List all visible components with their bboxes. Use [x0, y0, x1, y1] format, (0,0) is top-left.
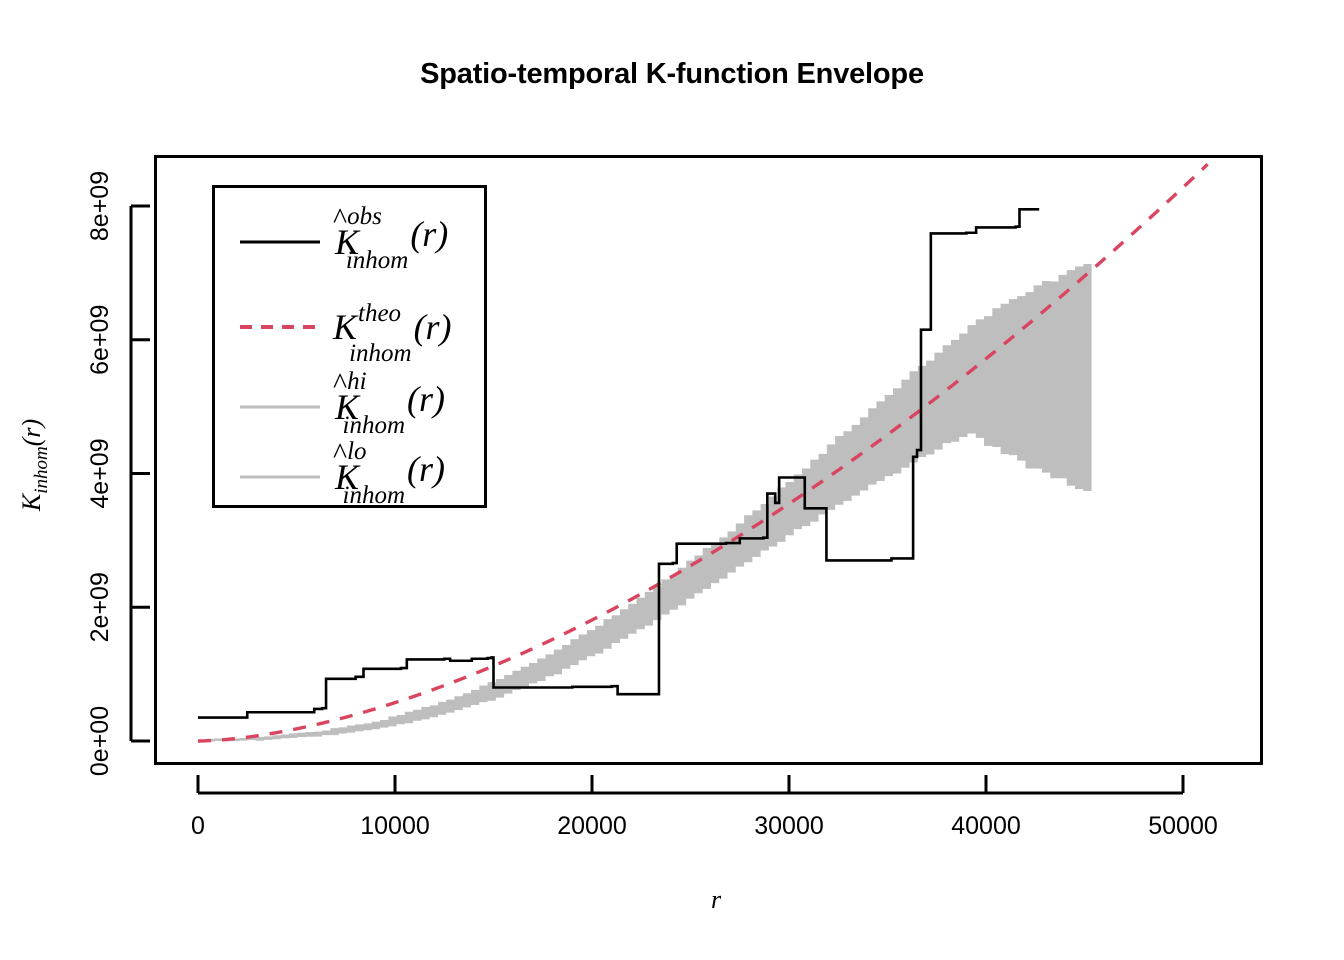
x-axis-tick-label: 10000: [360, 812, 430, 840]
y-axis-tick-label: 0e+00: [86, 706, 114, 776]
legend[interactable]: K^obsinhom(r)Ktheoinhom(r)K^hiinhom(r)K^…: [214, 187, 486, 510]
x-axis-tick-label: 30000: [754, 812, 824, 840]
y-axis: 0e+002e+094e+096e+098e+09: [86, 171, 150, 776]
x-axis: 01000020000300004000050000: [191, 775, 1218, 840]
plot-canvas: 01000020000300004000050000 0e+002e+094e+…: [0, 0, 1344, 960]
x-axis-tick-label: 20000: [557, 812, 627, 840]
x-axis-tick-label: 50000: [1148, 812, 1218, 840]
x-axis-label: r: [711, 885, 722, 914]
chart-figure: Spatio-temporal K-function Envelope 0100…: [0, 0, 1344, 960]
x-axis-tick-label: 0: [191, 812, 205, 840]
x-axis-tick-label: 40000: [951, 812, 1021, 840]
y-axis-tick-label: 4e+09: [86, 438, 114, 508]
y-axis-tick-label: 2e+09: [86, 572, 114, 642]
y-axis-label: Kinhom(r): [17, 419, 52, 512]
y-axis-tick-label: 6e+09: [86, 305, 114, 375]
y-axis-tick-label: 8e+09: [86, 171, 114, 241]
y-axis-label-group: Kinhom(r): [17, 419, 52, 512]
